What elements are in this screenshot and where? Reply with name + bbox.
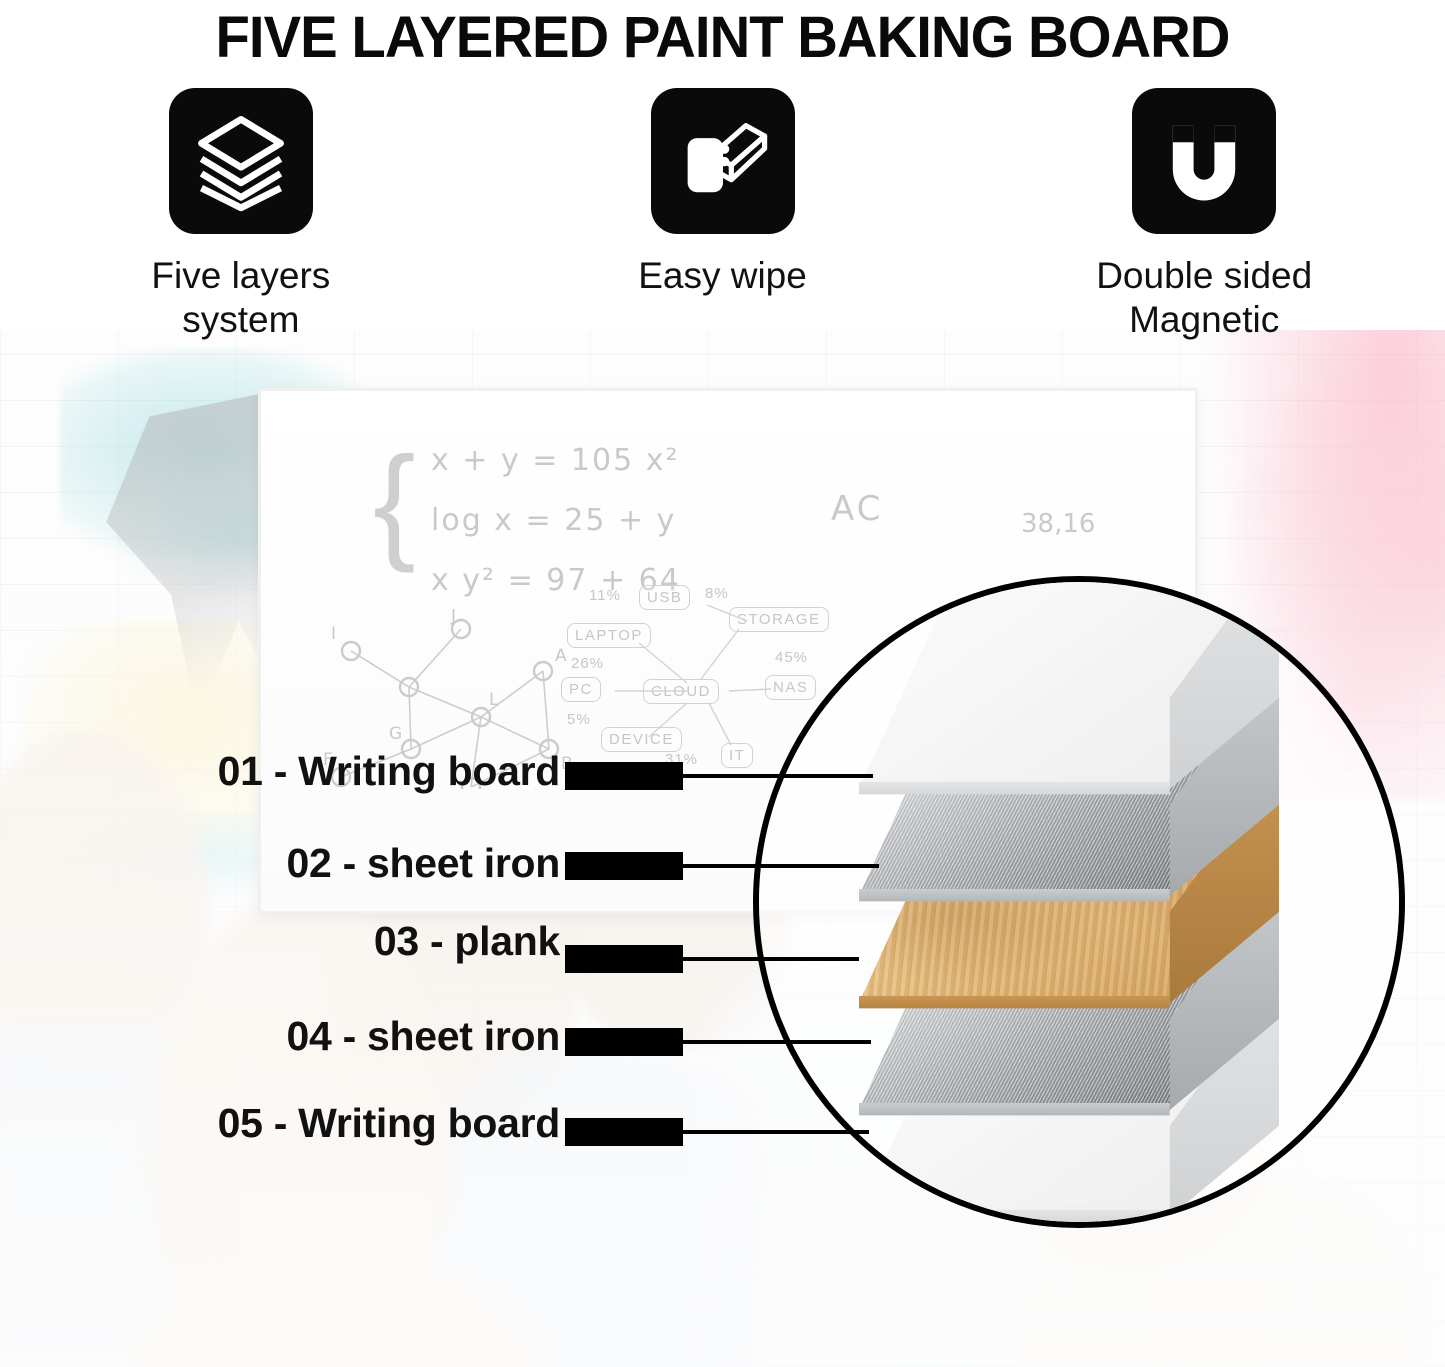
- whiteboard-equation-2: log x = 25 + y: [431, 503, 676, 538]
- callout-04-bar: [565, 1028, 683, 1056]
- hand-eraser-icon: [651, 88, 795, 234]
- feature-label: Easy wipe: [638, 254, 807, 298]
- callout-01-leader-line: [681, 774, 873, 778]
- callout-02: 02 - sheet iron: [0, 840, 560, 887]
- callout-02-leader-line: [681, 864, 879, 868]
- callout-label: 03 - plank: [374, 918, 560, 965]
- callout-03-leader-line: [681, 957, 859, 961]
- callout-label: 05 - Writing board: [218, 1100, 560, 1147]
- callout-02-bar: [565, 852, 683, 880]
- feature-five-layers: Five layers system: [0, 88, 482, 341]
- feature-label: Five layers system: [151, 254, 330, 341]
- callout-label: 01 - Writing board: [218, 748, 560, 795]
- callout-04-leader-line: [681, 1040, 871, 1044]
- callout-04: 04 - sheet iron: [0, 1013, 560, 1060]
- node-label-A: A: [555, 646, 567, 666]
- whiteboard-number-3816: 38,16: [1021, 509, 1095, 539]
- feature-label: Double sided Magnetic: [1096, 254, 1312, 341]
- callout-05-leader-line: [681, 1130, 869, 1134]
- node-label-I: I: [331, 624, 336, 644]
- callout-05: 05 - Writing board: [0, 1100, 560, 1147]
- whiteboard-equation-1: x + y = 105 x²: [431, 443, 680, 478]
- callout-03-bar: [565, 945, 683, 973]
- feature-double-sided-magnetic: Double sided Magnetic: [963, 88, 1445, 341]
- exploded-layer-01-writing-board: [859, 576, 1279, 789]
- whiteboard-text-ac: AC: [831, 489, 883, 529]
- callout-label: 04 - sheet iron: [287, 1013, 560, 1060]
- callout-label: 02 - sheet iron: [287, 840, 560, 887]
- feature-easy-wipe: Easy wipe: [482, 88, 964, 341]
- callout-01: 01 - Writing board: [0, 748, 560, 795]
- node-label-L: L: [489, 690, 499, 710]
- equation-brace: {: [373, 439, 416, 567]
- layers-stack-icon: [169, 88, 313, 234]
- page-title: FIVE LAYERED PAINT BAKING BOARD: [22, 4, 1424, 71]
- callout-03: 03 - plank: [0, 918, 560, 965]
- node-label-G: G: [389, 724, 402, 744]
- callout-05-bar: [565, 1118, 683, 1146]
- node-label-J: J: [450, 609, 456, 626]
- callout-01-bar: [565, 762, 683, 790]
- infographic-canvas: { x + y = 105 x² log x = 25 + y x y² = 9…: [0, 0, 1445, 1367]
- feature-row: Five layers system: [0, 88, 1445, 341]
- horseshoe-magnet-icon: [1132, 88, 1276, 234]
